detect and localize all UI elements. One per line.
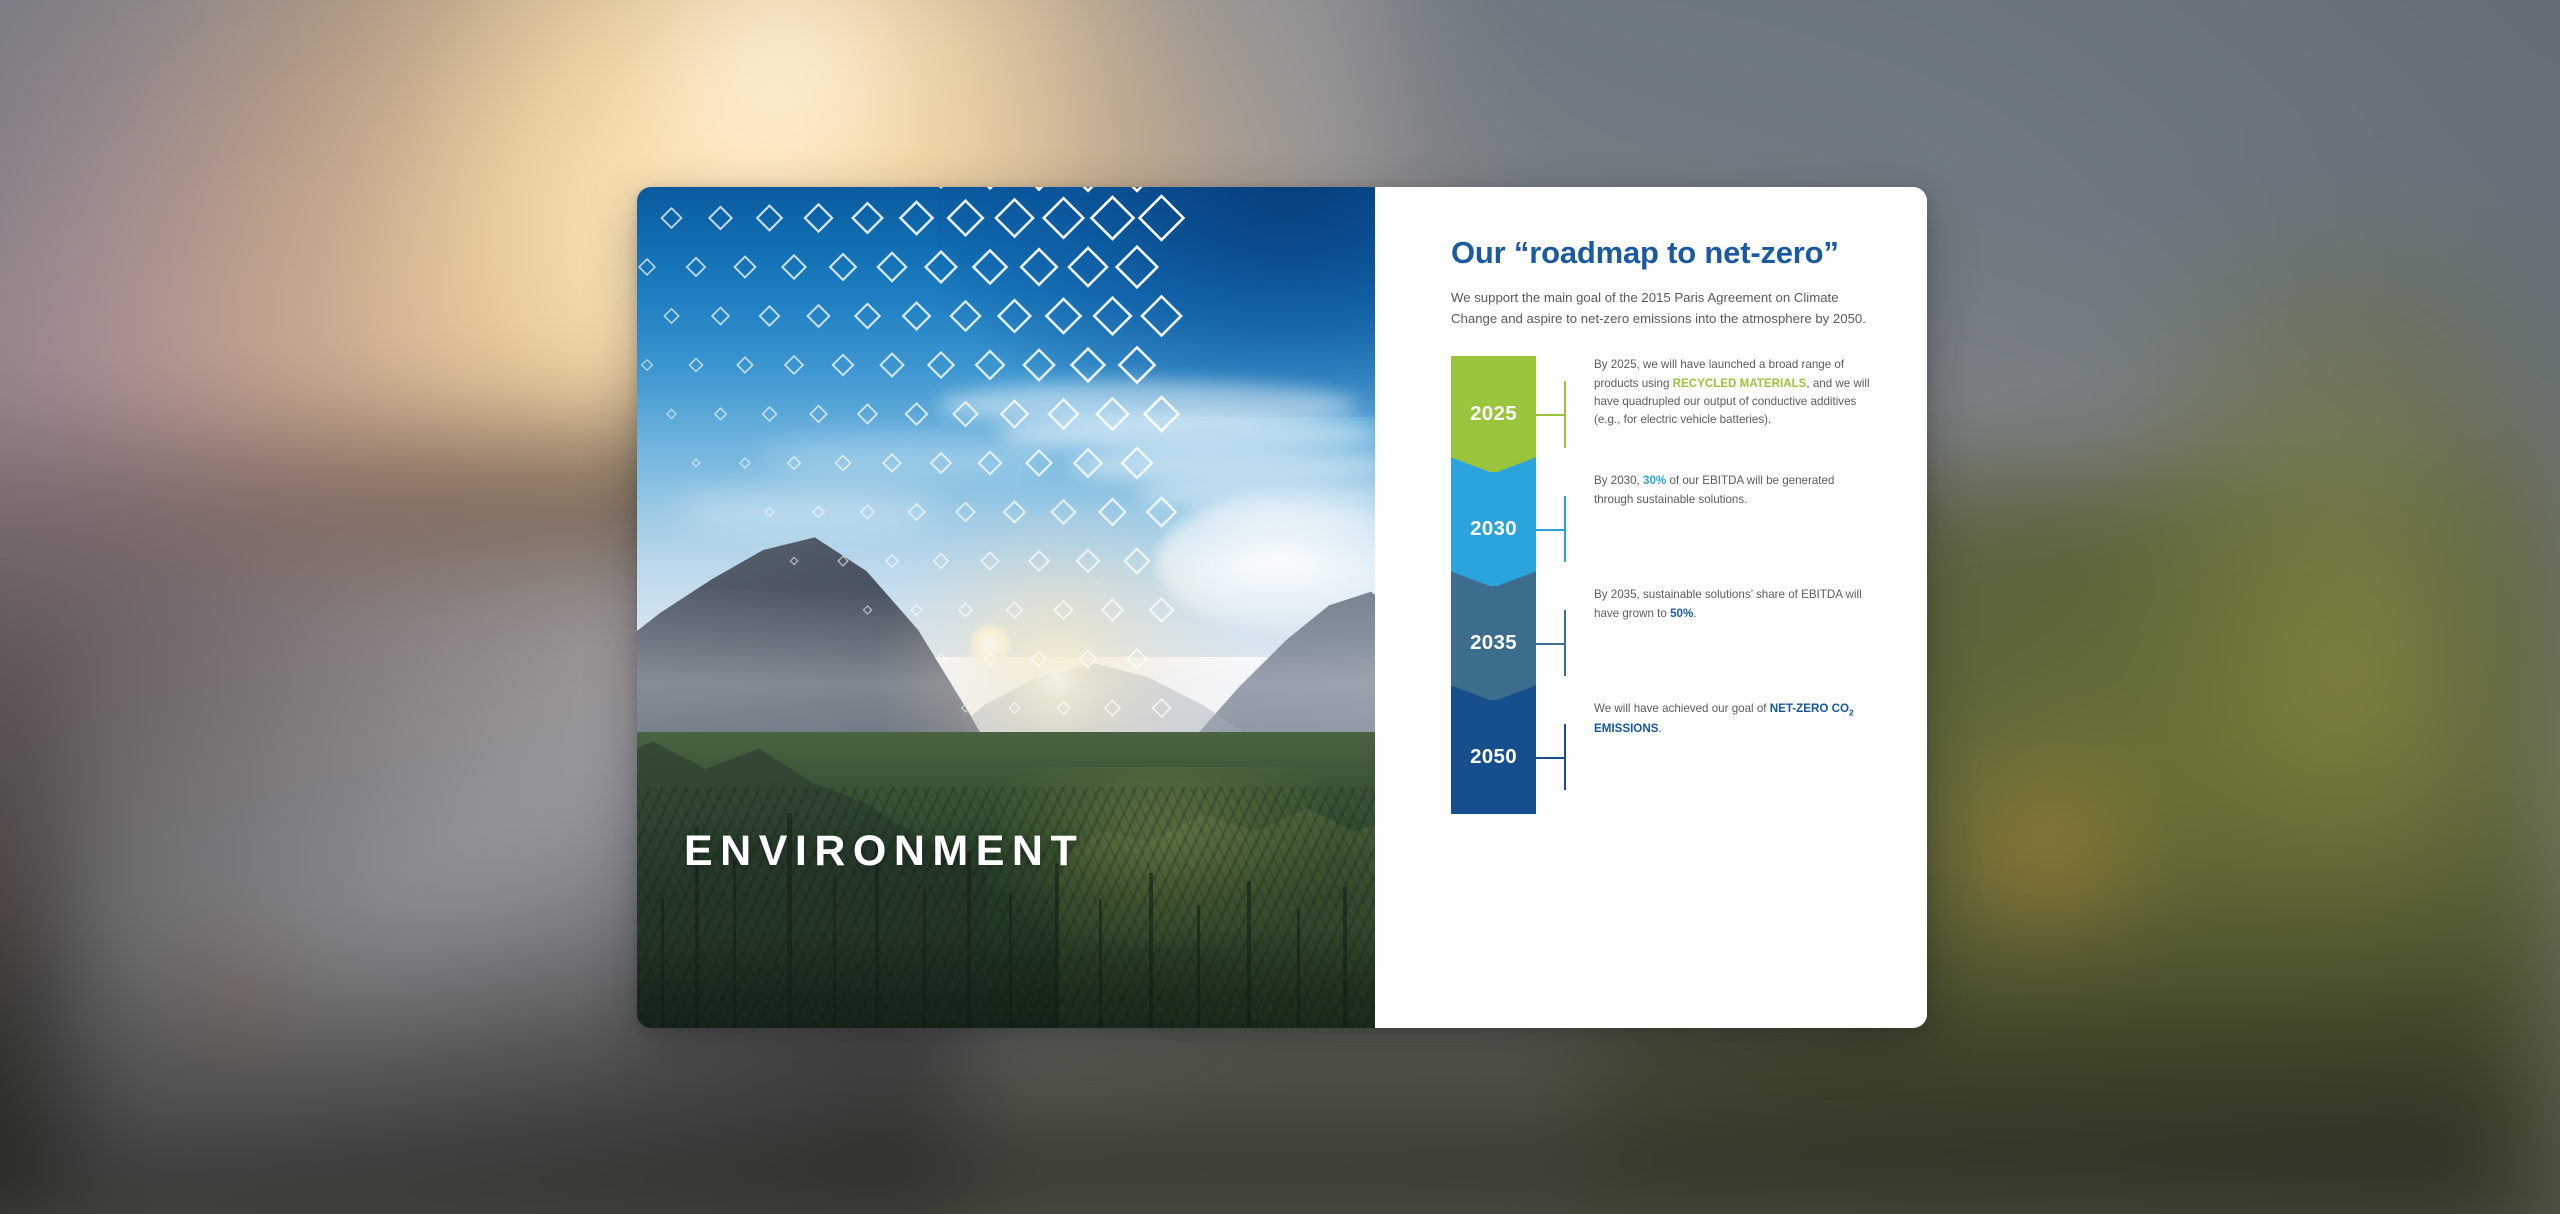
roadmap-timeline: 2025By 2025, we will have launched a bro… <box>1451 356 1883 814</box>
timeline-description: By 2025, we will have launched a broad r… <box>1594 356 1883 472</box>
timeline-description: By 2035, sustainable solutions’ share of… <box>1594 586 1883 700</box>
timeline-year-block: 2025 <box>1451 356 1536 472</box>
timeline-connector <box>1536 356 1594 472</box>
photo-panel: ENVIRONMENT <box>637 187 1375 1028</box>
timeline-connector <box>1536 586 1594 700</box>
timeline-year-label: 2035 <box>1470 631 1517 655</box>
content-panel: Our “roadmap to net-zero” We support the… <box>1375 187 1927 1028</box>
page-title: Our “roadmap to net-zero” <box>1451 235 1883 271</box>
timeline-year-label: 2025 <box>1470 402 1517 426</box>
timeline-row[interactable]: 2035By 2035, sustainable solutions’ shar… <box>1451 586 1883 700</box>
timeline-chevron <box>1451 685 1536 701</box>
diamond-pattern-overlay <box>637 187 1375 1028</box>
timeline-row[interactable]: 2050We will have achieved our goal of NE… <box>1451 700 1883 814</box>
timeline-description: We will have achieved our goal of NET-ZE… <box>1594 700 1883 814</box>
timeline-connector <box>1536 700 1594 814</box>
timeline-year-block: 2035 <box>1451 586 1536 700</box>
page-subtitle: We support the main goal of the 2015 Par… <box>1451 287 1883 330</box>
timeline-row[interactable]: 2030By 2030, 30% of our EBITDA will be g… <box>1451 472 1883 586</box>
timeline-year-block: 2050 <box>1451 700 1536 814</box>
timeline-row[interactable]: 2025By 2025, we will have launched a bro… <box>1451 356 1883 472</box>
timeline-year-block: 2030 <box>1451 472 1536 586</box>
timeline-chevron <box>1451 571 1536 587</box>
timeline-year-label: 2030 <box>1470 517 1517 541</box>
timeline-description: By 2030, 30% of our EBITDA will be gener… <box>1594 472 1883 586</box>
timeline-connector <box>1536 472 1594 586</box>
slide-card: ENVIRONMENT Our “roadmap to net-zero” We… <box>637 187 1927 1028</box>
photo-title: ENVIRONMENT <box>684 827 1084 876</box>
timeline-chevron <box>1451 457 1536 473</box>
timeline-year-label: 2050 <box>1470 745 1517 769</box>
